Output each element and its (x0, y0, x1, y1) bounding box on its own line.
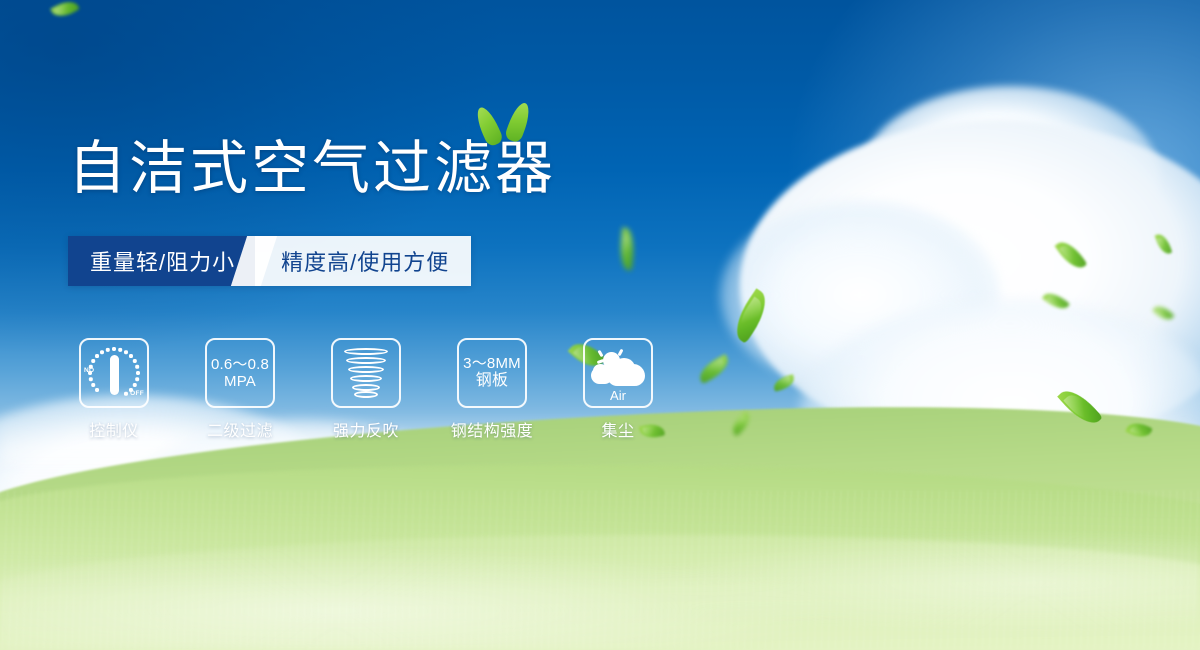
gauge-icon: NO OFF (85, 345, 143, 401)
gauge-off-label: OFF (130, 390, 144, 397)
feature-text-line2: 钢板 (476, 372, 508, 390)
feature-label: 控制仪 (89, 417, 139, 441)
feature-label: 强力反吹 (333, 417, 399, 441)
sprout-leaf-right-icon (504, 100, 534, 143)
feature-label: 集尘 (601, 417, 634, 441)
sprout-leaves-icon (472, 102, 542, 148)
grass-field (0, 420, 1200, 650)
grass-texture (0, 490, 1200, 650)
product-banner: 自洁式空气过滤器 重量轻/阻力小 精度高/使用方便 (0, 0, 1200, 650)
feature-item-blowback[interactable]: 强力反吹 (320, 338, 412, 441)
feature-label: 二级过滤 (207, 417, 273, 441)
feature-box: 0.6～0.8 MPA (205, 338, 275, 408)
subtitle-right-segment: 精度高/使用方便 (255, 236, 471, 286)
sprout-leaf-left-icon (473, 104, 505, 147)
feature-text-line1: 3～8MM (463, 355, 521, 372)
subtitle-bar: 重量轻/阻力小 精度高/使用方便 (68, 236, 471, 286)
feature-item-control[interactable]: NO OFF 控制仪 (68, 338, 160, 441)
gauge-on-label: NO (84, 367, 94, 374)
feature-item-filter[interactable]: 0.6～0.8 MPA 二级过滤 (194, 338, 286, 441)
feature-box (331, 338, 401, 408)
feature-box: NO OFF (79, 338, 149, 408)
feature-item-dust[interactable]: Air 集尘 (572, 338, 664, 441)
feature-label: 钢结构强度 (451, 417, 534, 441)
coil-icon (342, 346, 390, 400)
subtitle-left-text: 重量轻/阻力小 (90, 245, 235, 277)
page-title: 自洁式空气过滤器 (68, 140, 556, 198)
cloud-air-icon: Air (589, 348, 647, 398)
subtitle-right-text: 精度高/使用方便 (281, 245, 449, 277)
subtitle-left-segment: 重量轻/阻力小 (68, 236, 255, 286)
title-block: 自洁式空气过滤器 (68, 140, 556, 198)
feature-box: Air (583, 338, 653, 408)
feature-list: NO OFF 控制仪 0.6～0.8 MPA 二级过滤 (68, 338, 664, 441)
feature-item-steel[interactable]: 3～8MM 钢板 钢结构强度 (446, 338, 538, 441)
feature-box: 3～8MM 钢板 (457, 338, 527, 408)
gauge-needle-icon (110, 355, 119, 395)
feature-text-line2: MPA (224, 373, 256, 390)
feature-text-line1: 0.6～0.8 (211, 356, 269, 373)
air-label: Air (589, 389, 647, 404)
